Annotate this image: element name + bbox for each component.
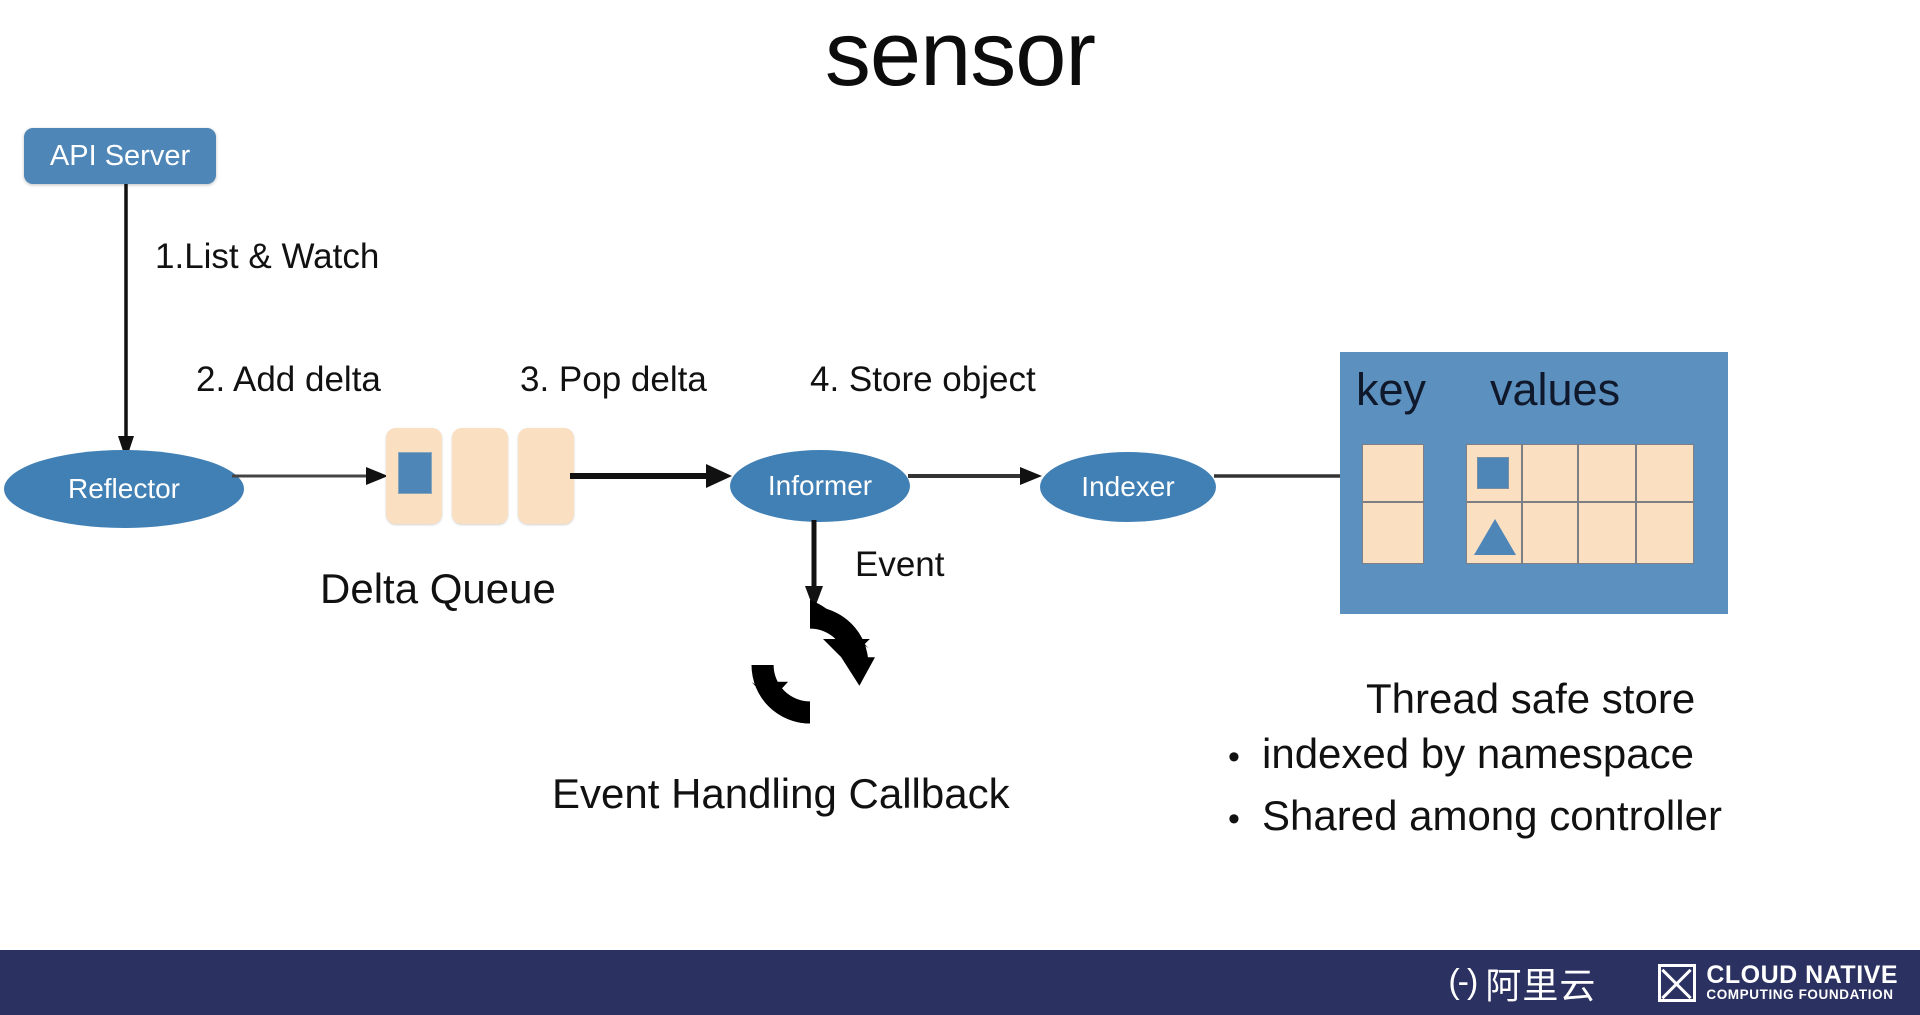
store-bullet-1: • indexed by namespace [1228,730,1694,778]
cncf-mark-icon [1658,964,1696,1002]
store-triangle-icon [1474,519,1516,555]
page-title: sensor [0,6,1920,103]
alibaba-mark-icon: (-) [1448,963,1476,1002]
node-reflector-label: Reflector [68,473,180,505]
store-value-cell-r1c1[interactable] [1466,444,1522,502]
arrow-informer-to-indexer [908,466,1048,516]
node-api-server[interactable]: API Server [24,128,216,184]
store-value-cell-r2c4[interactable] [1636,502,1694,564]
store-value-cell-r2c2[interactable] [1522,502,1578,564]
store-value-cell-r1c4[interactable] [1636,444,1694,502]
store-header-key: key [1356,364,1426,416]
node-reflector[interactable]: Reflector [4,450,244,528]
store-key-cell-1[interactable] [1362,444,1424,502]
label-event: Event [855,545,945,585]
store-square-icon [1477,457,1509,489]
label-step-1: 1.List & Watch [155,237,379,277]
delta-queue-slot-1[interactable] [386,428,442,524]
arrow-delta-queue-to-informer [570,466,735,516]
delta-item-square-icon [398,452,432,494]
refresh-sync-icon [720,600,900,730]
label-step-3: 3. Pop delta [520,360,707,400]
node-informer-label: Informer [768,470,872,502]
cncf-line-1: CLOUD NATIVE [1706,963,1898,988]
footer-bar: (-) 阿里云 CLOUD NATIVE COMPUTING FOUNDATIO… [0,950,1920,1015]
cncf-line-2: COMPUTING FOUNDATION [1706,988,1898,1002]
label-step-2: 2. Add delta [196,360,381,400]
alibaba-cloud-logo: (-) 阿里云 [1448,957,1596,1009]
cncf-wordmark: CLOUD NATIVE COMPUTING FOUNDATION [1706,963,1898,1002]
store-bullet-2: • Shared among controller [1228,792,1722,840]
delta-queue-caption: Delta Queue [320,565,556,613]
arrow-reflector-to-delta-queue [232,466,392,516]
store-header-values: values [1490,364,1620,416]
store-caption: Thread safe store [1366,675,1695,723]
node-informer[interactable]: Informer [730,450,910,522]
thread-safe-store-panel: key values [1340,352,1728,614]
store-value-cell-r2c3[interactable] [1578,502,1636,564]
store-key-cell-2[interactable] [1362,502,1424,564]
label-step-4: 4. Store object [810,360,1036,400]
footer-logos: (-) 阿里云 CLOUD NATIVE COMPUTING FOUNDATIO… [1448,957,1920,1009]
bullet-marker-icon: • [1228,802,1262,836]
bullet-marker-icon: • [1228,740,1262,774]
alibaba-cloud-name: 阿里云 [1485,957,1596,1009]
delta-queue-slot-3[interactable] [518,428,574,524]
cncf-logo: CLOUD NATIVE COMPUTING FOUNDATION [1658,963,1898,1002]
store-bullet-2-label: Shared among controller [1262,792,1722,840]
callback-caption: Event Handling Callback [552,770,1010,818]
arrow-api-server-to-reflector [118,184,148,464]
store-value-cell-r1c2[interactable] [1522,444,1578,502]
node-indexer[interactable]: Indexer [1040,452,1216,522]
store-value-cell-r2c1[interactable] [1466,502,1522,564]
node-indexer-label: Indexer [1081,471,1174,503]
store-value-cell-r1c3[interactable] [1578,444,1636,502]
slide-canvas: sensor API Server 1.List & Watch 2. Add … [0,0,1920,1015]
store-bullet-1-label: indexed by namespace [1262,730,1694,778]
delta-queue-slot-2[interactable] [452,428,508,524]
node-api-server-label: API Server [50,140,190,173]
